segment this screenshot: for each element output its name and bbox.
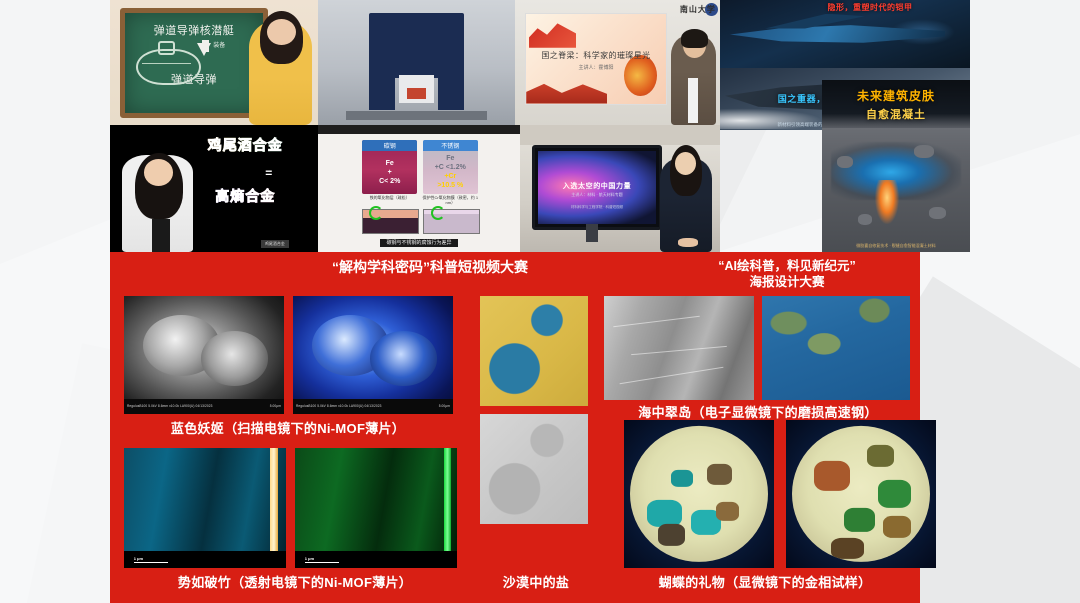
thumb-self-healing-concrete-poster[interactable]: 未来建筑皮肤 自愈混凝土 微胶囊自修复技术 · 裂缝自愈智能混凝土材料 (822, 80, 970, 252)
thumb-lab-equipment[interactable] (318, 0, 515, 125)
slide-title: 国之脊梁：科学家的璀璨星光 (526, 50, 665, 61)
metallography-2-circle (792, 426, 930, 562)
cocktail-equals-sign: = (265, 166, 272, 180)
salt-color-field (480, 296, 588, 406)
tem-green-scale-label: 1 μm (305, 556, 314, 561)
chalkboard-line-1: 弹道导弹核潜艇 (125, 22, 262, 38)
sem-info-left-1: RegulusB100 5.0kV 8.6mm x10.0k LA900(U) … (127, 404, 212, 408)
image-desert-salt-grey[interactable] (480, 414, 588, 524)
banner-poster-line1: “AI绘科普，料见新纪元” (662, 258, 912, 274)
image-tem-blue[interactable]: 1 μm (124, 448, 286, 568)
sem-info-right-1: 5.00μm (270, 404, 281, 408)
metallography-1-field (624, 420, 774, 568)
aerospace-room-wall (520, 125, 720, 145)
aerospace-presenter-hands (678, 238, 698, 247)
grain-olive-1 (867, 445, 895, 467)
caption-desert-salt: 沙漠中的盐 (482, 572, 590, 591)
machine-leg-right (438, 73, 464, 111)
grain-brown-3 (716, 502, 739, 521)
sem-info-left-2: RegulusB100 5.0kV 8.6mm x10.0k LA900(U) … (296, 404, 381, 408)
caption-bamboo-tem: 势如破竹（透射电镜下的Ni-MOF薄片） (120, 572, 470, 591)
submarine-detail-line (142, 63, 191, 64)
concrete-aggregate-2 (914, 145, 934, 158)
carbon-steel-header: 碳钢 (362, 140, 417, 151)
caption-blue-rose: 蓝色妖姬（扫描电镜下的Ni-MOF薄片） (120, 418, 456, 437)
banner-poster-contest: “AI绘科普，料见新纪元” 海报设计大赛 (662, 256, 912, 290)
sem-info-bar-1: RegulusB100 5.0kV 8.6mm x10.0k LA900(U) … (124, 399, 284, 414)
presentation-slide: 国之脊梁：科学家的璀璨星光 主讲人：霍博阳 (525, 13, 666, 105)
slide-stage: 弹道导弹核潜艇 装备 弹道导弹 国之脊梁：科学家的璀璨星光 主讲人：霍 (0, 0, 1080, 603)
banner-video-contest: “解构学科密码”科普短视频大赛 (170, 256, 690, 278)
image-metallography-1[interactable] (624, 420, 774, 568)
carbon-steel-card: 碳钢 Fe + C< 2% (362, 140, 417, 193)
metallography-1-circle (630, 426, 768, 562)
chalkboard-side-note: 装备 (213, 43, 225, 50)
screen-subtitle: 主讲人：材料 · 航天材料专题 (535, 192, 659, 198)
concrete-aggregate-3 (858, 214, 872, 225)
cocktail-tag-label: 鸡尾酒合金 (261, 240, 289, 248)
green-arrow-left-icon (369, 206, 383, 220)
jet-headline-top: 隐形，重塑时代的铠甲 (780, 2, 960, 13)
sem-info-bar-2: RegulusB100 5.0kV 8.6mm x10.0k LA900(U) … (293, 399, 453, 414)
metallography-2-field (786, 420, 936, 568)
tem-blue-scalebar: 1 μm (134, 556, 168, 564)
stainless-steel-line-2: +C <1.2% (435, 164, 466, 171)
cocktail-title-line1: 鸡尾酒合金 (181, 135, 310, 155)
grain-brown-2 (658, 524, 686, 546)
thumb-steel-comparison[interactable]: 碳钢 Fe + C< 2% 不锈钢 Fe +C <1.2% +Cr >10.5 … (318, 125, 520, 252)
tem-green-scalebar: 1 μm (305, 556, 339, 564)
grain-teal-1 (647, 499, 683, 526)
stainless-steel-caption: 保护性Cr氧化物膜（致密，约 1 nm） (419, 195, 482, 205)
slide-hill-graphic (526, 78, 607, 103)
university-logo-text: 南山大学 (680, 4, 716, 15)
image-ocean-island-map[interactable] (762, 296, 910, 400)
banner-poster-line2: 海报设计大赛 (662, 274, 912, 290)
steel-slide-topbar (318, 125, 520, 134)
stainless-steel-line-4: >10.5 % (437, 182, 463, 189)
stainless-steel-line-1: Fe (446, 155, 454, 162)
carbon-steel-line-3: C< 2% (379, 178, 400, 185)
machine-base (346, 111, 488, 120)
machine-leg-left (369, 73, 395, 111)
thumb-ballistic-missile-submarine[interactable]: 弹道导弹核潜艇 装备 弹道导弹 (110, 0, 318, 125)
poster-title-line2: 自愈混凝土 (822, 106, 970, 122)
machine-body (369, 13, 464, 78)
cocktail-presenter-inner-shirt (152, 219, 171, 252)
tem-green-bright-edge (444, 448, 450, 563)
stainless-steel-card: 不锈钢 Fe +C <1.2% +Cr >10.5 % (423, 140, 478, 193)
tem-green-field (295, 448, 457, 568)
chalkboard: 弹道导弹核潜艇 装备 弹道导弹 (120, 8, 267, 118)
image-metallography-2[interactable] (786, 420, 936, 568)
image-desert-salt-color[interactable] (480, 296, 588, 406)
submarine-tower-icon (158, 41, 174, 55)
grain-green-2 (844, 508, 874, 533)
poster-footer-note: 微胶囊自修复技术 · 裂缝自愈智能混凝土材料 (822, 243, 970, 249)
screen-footer: 材料科学与工程学院 · 科普短视频 (535, 205, 659, 210)
thumb-aerospace-presentation[interactable]: 入选太空的中国力量 主讲人：材料 · 航天材料专题 材料科学与工程学院 · 科普… (520, 125, 720, 252)
image-wear-high-speed-steel[interactable] (604, 296, 754, 400)
machine-sample (407, 88, 427, 99)
thumb-cocktail-alloy[interactable]: 鸡尾酒合金 = 高熵合金 鸡尾酒合金 (110, 125, 318, 252)
thumb-stealth-jet-top[interactable]: 隐形，重塑时代的铠甲 (720, 0, 970, 68)
steel-slide-footer: 碳钢与不锈钢的腐蚀行为差异 (318, 231, 520, 249)
thumb-scientists-presentation[interactable]: 国之脊梁：科学家的璀璨星光 主讲人：霍博阳 南山大学 (515, 0, 720, 125)
salt-grey-field (480, 414, 588, 524)
grain-brown-1 (707, 464, 732, 484)
tem-green-scale-line (305, 562, 339, 564)
steel-topbar-text (318, 125, 520, 135)
concrete-aggregate-1 (837, 156, 853, 168)
grain-brown-4 (831, 538, 864, 560)
concrete-healing-spark (875, 180, 899, 225)
down-arrow-icon (197, 43, 211, 56)
speaker-hair (681, 29, 708, 48)
caption-emerald-island: 海中翠岛（电子显微镜下的磨损高速钢） (600, 402, 916, 421)
screen-stand (586, 224, 598, 242)
carbon-steel-body: Fe + C< 2% (362, 151, 417, 194)
grain-teal-3 (671, 469, 693, 487)
grain-green-1 (878, 480, 911, 507)
tem-blue-scale-line (134, 562, 168, 564)
cocktail-title-line2: 高熵合金 (181, 186, 310, 206)
presentation-screen: 入选太空的中国力量 主讲人：材料 · 航天材料专题 材料科学与工程学院 · 科普… (532, 145, 662, 230)
slide-subtitle: 主讲人：霍博阳 (526, 64, 665, 71)
screen-title: 入选太空的中国力量 (535, 181, 659, 191)
aerospace-presenter-face (675, 152, 696, 175)
caption-butterfly-gift: 蝴蝶的礼物（显微镜下的金相试样） (605, 572, 925, 591)
image-tem-green[interactable]: 1 μm (295, 448, 457, 568)
tem-blue-field (124, 448, 286, 568)
grain-orange-1 (814, 461, 850, 491)
image-sem-rose-blue[interactable]: RegulusB100 5.0kV 8.6mm x10.0k LA900(U) … (293, 296, 453, 414)
tem-blue-scale-label: 1 μm (134, 556, 143, 561)
slide-mountain-graphic (529, 21, 576, 48)
poster-title-line1: 未来建筑皮肤 (822, 87, 970, 104)
concrete-aggregate-4 (929, 207, 946, 219)
carbon-steel-line-1: Fe (386, 160, 394, 167)
sem-info-right-2: 5.00μm (439, 404, 450, 408)
slide-sun-graphic (624, 55, 657, 96)
image-sem-rose-grey[interactable]: RegulusB100 5.0kV 8.6mm x10.0k LA900(U) … (124, 296, 284, 414)
carbon-steel-caption: 铁的氧化物层（疏松） (358, 195, 421, 200)
rose-structure-2 (201, 331, 268, 385)
steel-footer-text: 碳钢与不锈钢的腐蚀行为差异 (380, 239, 457, 247)
carbon-steel-line-2: + (388, 169, 392, 176)
contest-panel: “解构学科密码”科普短视频大赛 “AI绘科普，料见新纪元” 海报设计大赛 Reg… (110, 252, 920, 603)
wear-steel-field (604, 296, 754, 400)
presenter-face (267, 19, 296, 45)
stainless-steel-header: 不锈钢 (423, 140, 478, 151)
tem-blue-bright-edge (270, 448, 278, 563)
speaker-shirt (688, 78, 698, 123)
stainless-steel-body: Fe +C <1.2% +Cr >10.5 % (423, 151, 478, 194)
stainless-steel-line-3: +Cr (444, 173, 456, 180)
grain-gold-1 (883, 516, 911, 538)
rose-structure-blue-2 (370, 331, 437, 385)
ocean-map-field (762, 296, 910, 400)
